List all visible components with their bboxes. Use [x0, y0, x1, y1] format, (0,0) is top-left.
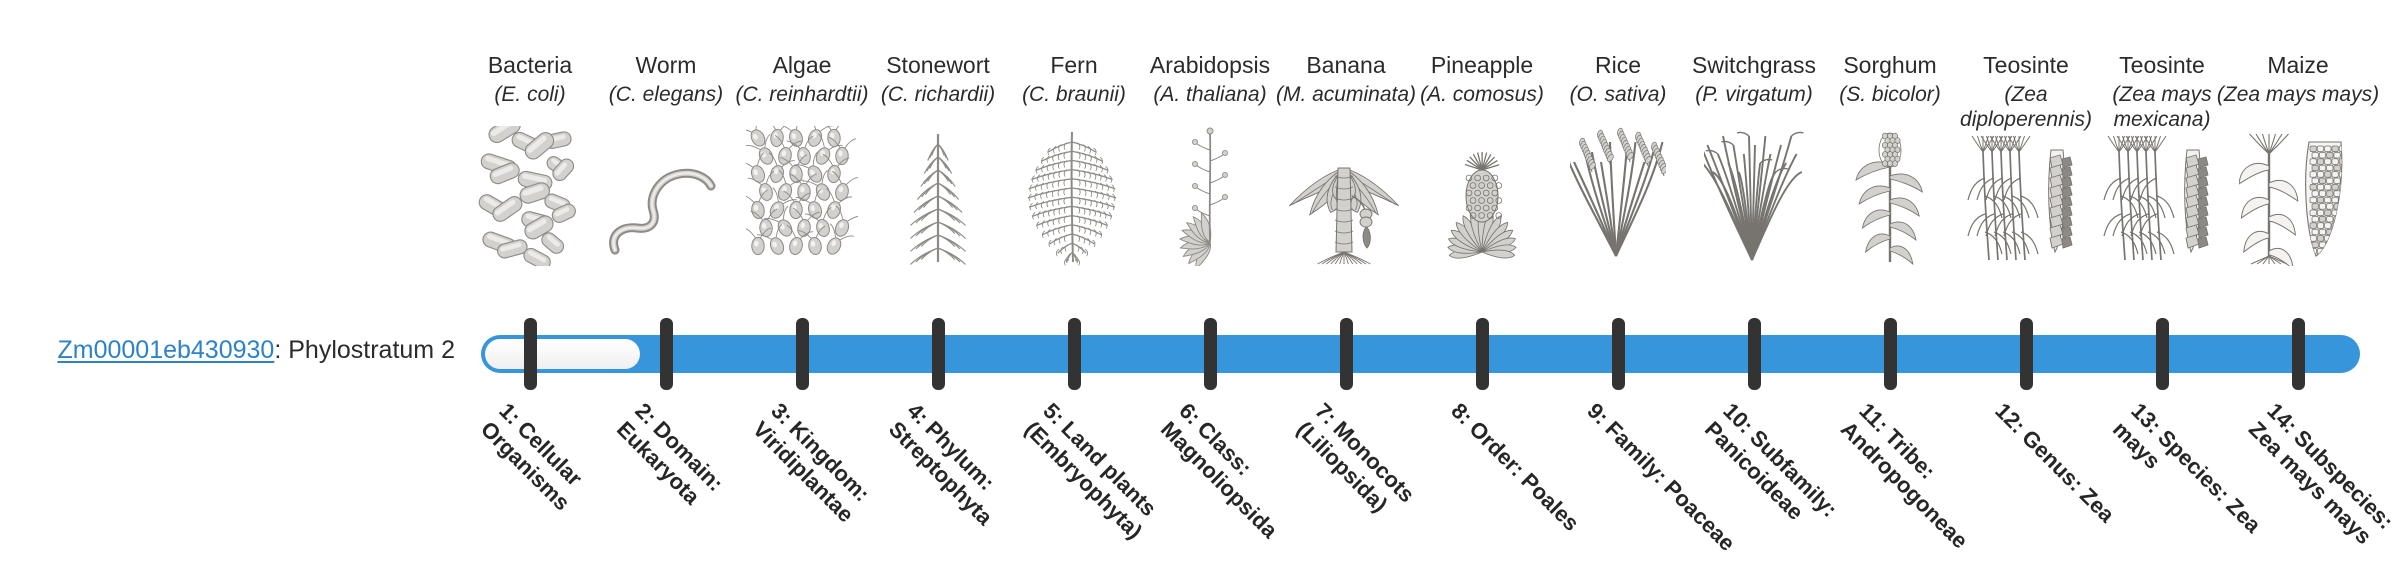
phylostratum-tick[interactable] — [1340, 318, 1353, 390]
phylostratum-tick[interactable] — [796, 318, 809, 390]
species-column: Teosinte(Zea mays mexicana) — [2094, 52, 2230, 307]
species-latin-name: (Zea mays mays) — [2216, 82, 2380, 107]
phylostratum-tick[interactable] — [2156, 318, 2169, 390]
phylostratum-progress-bar[interactable] — [481, 335, 2360, 373]
gene-id-link[interactable]: Zm00001eb430930 — [57, 336, 274, 364]
maize-plant-and-cob-icon — [2216, 160, 2380, 266]
phylostratum-tick[interactable] — [932, 318, 945, 390]
phylostratum-tick[interactable] — [2020, 318, 2033, 390]
species-common-name: Maize — [2216, 52, 2380, 79]
phylostratum-timeline: Zm00001eb430930: Phylostratum 2 Bacteria… — [0, 0, 2400, 580]
species-column: Sorghum(S. bicolor) — [1822, 52, 1958, 307]
species-column: Arabidopsis(A. thaliana) — [1142, 52, 1278, 307]
species-column: Bacteria(E. coli) — [462, 52, 598, 307]
species-column: Switchgrass(P. virgatum) — [1686, 52, 1822, 307]
species-column: Teosinte(Zea diploperennis) — [1958, 52, 2094, 307]
species-column: Worm(C. elegans) — [598, 52, 734, 307]
phylostratum-tick[interactable] — [660, 318, 673, 390]
species-column: Algae(C. reinhardtii) — [734, 52, 870, 307]
species-column: Maize(Zea mays mays) — [2230, 52, 2366, 307]
phylostratum-tick[interactable] — [1068, 318, 1081, 390]
phylostratum-tick[interactable] — [1612, 318, 1625, 390]
phylostratum-tick[interactable] — [524, 318, 537, 390]
phylostratum-value-text: Phylostratum 2 — [288, 336, 455, 364]
phylostratum-progress-empty-segment — [485, 339, 640, 369]
phylostratum-tick[interactable] — [1884, 318, 1897, 390]
gene-label-separator: : — [274, 336, 288, 364]
species-column: Rice(O. sativa) — [1550, 52, 1686, 307]
phylostratum-tick[interactable] — [1476, 318, 1489, 390]
species-column: Stonewort(C. richardii) — [870, 52, 1006, 307]
species-column: Fern(C. braunii) — [1006, 52, 1142, 307]
phylostratum-tick[interactable] — [2292, 318, 2305, 390]
species-column: Banana(M. acuminata) — [1278, 52, 1414, 307]
species-column: Pineapple(A. comosus) — [1414, 52, 1550, 307]
phylostratum-tick[interactable] — [1748, 318, 1761, 390]
gene-phylostratum-label: Zm00001eb430930: Phylostratum 2 — [0, 335, 455, 365]
species-header-strip: Bacteria(E. coli) — [462, 52, 2364, 307]
phylostratum-tick[interactable] — [1204, 318, 1217, 390]
